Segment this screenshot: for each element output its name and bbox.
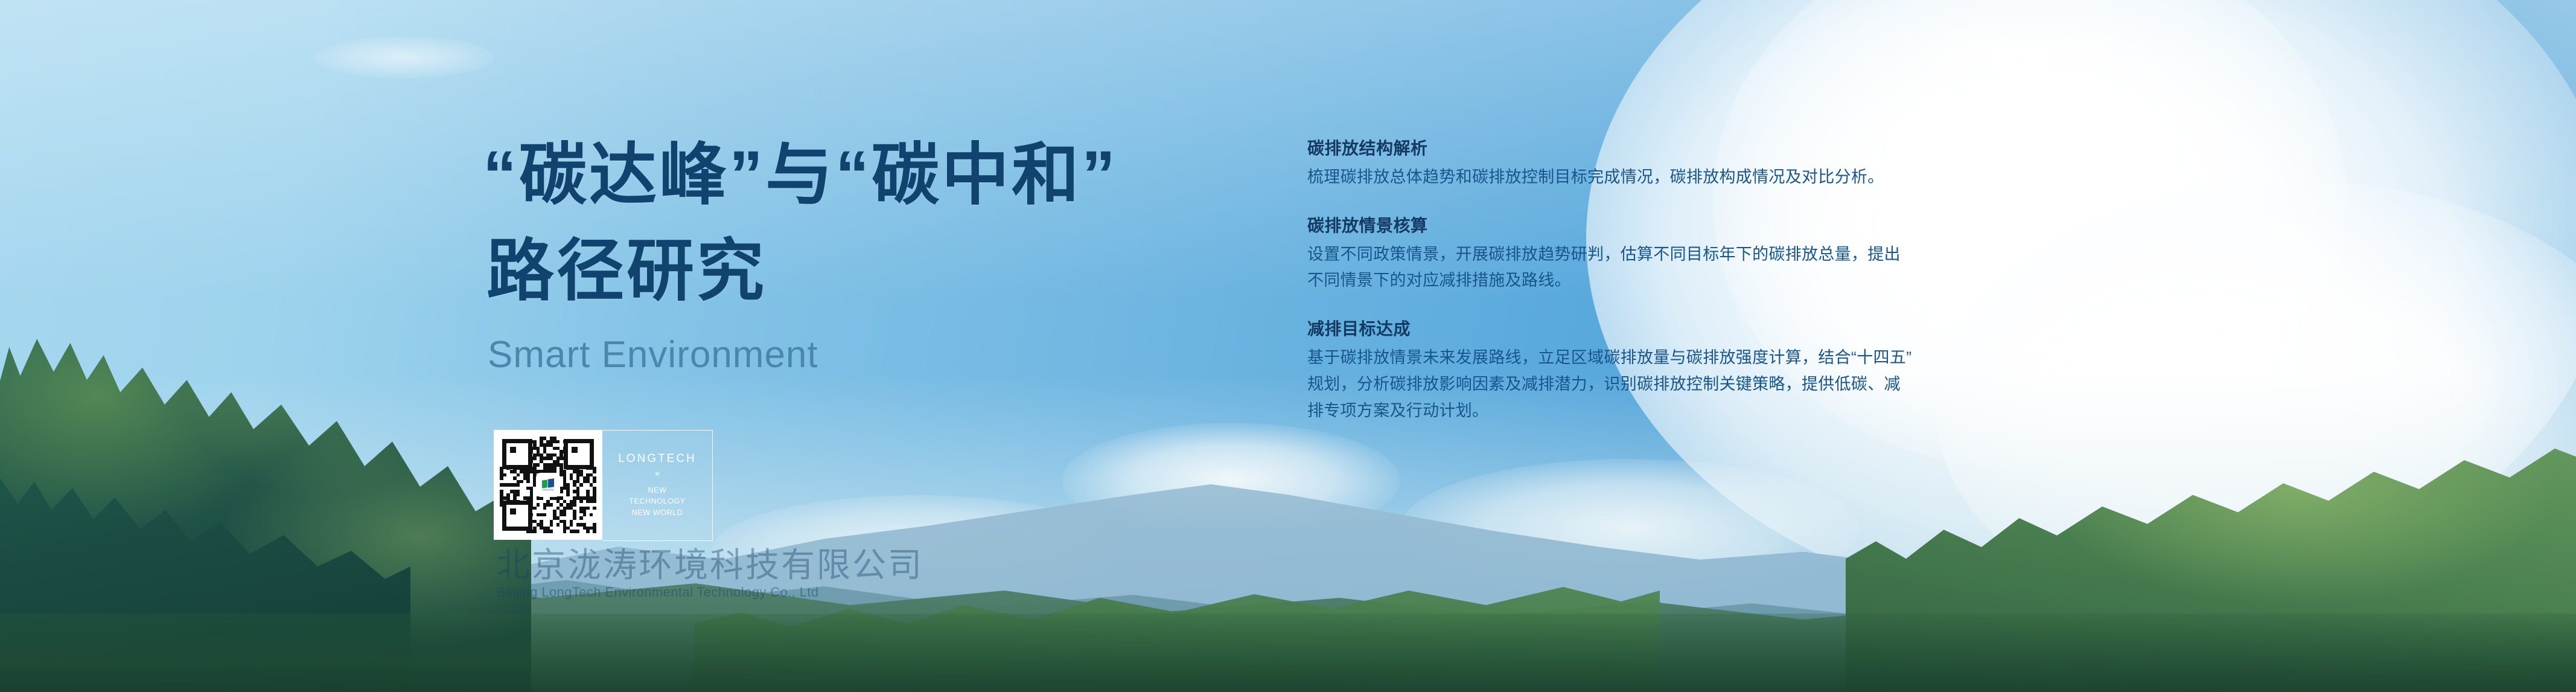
brand-tagline-line-1: NEW: [629, 485, 686, 496]
brand-tagline-line-3: NEW WORLD: [629, 507, 686, 518]
info-section-body: 设置不同政策情景，开展碳排放趋势研判，估算不同目标年下的碳排放总量，提出不同情景…: [1307, 242, 2213, 294]
info-section-body-line: 梳理碳排放总体趋势和碳排放控制目标完成情况，碳排放构成情况及对比分析。: [1307, 164, 2213, 191]
title-block: “碳达峰”与“碳中和” 路径研究 Smart Environment: [483, 127, 1237, 376]
page-title-line-1: “碳达峰”与“碳中和”: [483, 127, 1237, 223]
page-title-line-2: 路径研究: [483, 223, 1237, 319]
qr-finder-top-right-icon: [564, 439, 594, 469]
qr-code-card[interactable]: 北京泷涛环境: [494, 430, 602, 540]
info-section: 碳排放情景核算设置不同政策情景，开展碳排放趋势研判，估算不同目标年下的碳排放总量…: [1307, 215, 2213, 294]
logo-shape-green: [542, 479, 547, 488]
info-section-body-line: 排专项方案及行动计划。: [1307, 398, 2213, 424]
qr-code-icon[interactable]: 北京泷涛环境: [500, 437, 596, 533]
qr-finder-top-left-icon: [502, 439, 532, 469]
brand-tagline-line-2: TECHNOLOGY: [629, 496, 686, 507]
qr-finder-bottom-left-icon: [502, 501, 532, 531]
qr-brand-row: 北京泷涛环境 LONGTECH × NEW TECHNOLOGY NEW WOR…: [494, 430, 713, 541]
brand-name: LONGTECH: [618, 453, 697, 464]
cloud-wisp-top-right: [1919, 24, 2125, 91]
info-section: 碳排放结构解析梳理碳排放总体趋势和碳排放控制目标完成情况，碳排放构成情况及对比分…: [1307, 138, 2213, 191]
info-section-body: 基于碳排放情景未来发展路线，立足区域碳排放量与碳排放强度计算，结合“十四五”规划…: [1307, 345, 2213, 424]
hero-banner: “碳达峰”与“碳中和” 路径研究 Smart Environment 北京泷涛环…: [0, 0, 2576, 692]
info-section-heading: 碳排放情景核算: [1307, 215, 2213, 236]
brand-separator-icon: ×: [654, 470, 660, 479]
logo-caption: 北京泷涛环境: [542, 489, 553, 491]
info-section-body-line: 基于碳排放情景未来发展路线，立足区域碳排放量与碳排放强度计算，结合“十四五”: [1307, 345, 2213, 371]
info-section-body-line: 规划，分析碳排放影响因素及减排潜力，识别碳排放控制关键策略，提供低碳、减: [1307, 371, 2213, 398]
brand-tagline: NEW TECHNOLOGY NEW WORLD: [629, 485, 686, 517]
info-section-body-line: 设置不同政策情景，开展碳排放趋势研判，估算不同目标年下的碳排放总量，提出: [1307, 242, 2213, 268]
cloud-wisp-top-left: [314, 36, 495, 78]
info-section-body-line: 不同情景下的对应减排措施及路线。: [1307, 268, 2213, 294]
company-logo-icon: 北京泷涛环境: [537, 474, 559, 496]
logo-shape-blue: [548, 478, 554, 487]
logo-mark-icon: [542, 479, 554, 489]
page-subtitle: Smart Environment: [488, 335, 1237, 376]
info-column: 碳排放结构解析梳理碳排放总体趋势和碳排放控制目标完成情况，碳排放构成情况及对比分…: [1307, 138, 2213, 424]
info-section-heading: 减排目标达成: [1307, 318, 2213, 339]
info-section-heading: 碳排放结构解析: [1307, 138, 2213, 159]
forest-bottom-shadow: [0, 614, 2576, 692]
info-section: 减排目标达成基于碳排放情景未来发展路线，立足区域碳排放量与碳排放强度计算，结合“…: [1307, 318, 2213, 424]
brand-panel: LONGTECH × NEW TECHNOLOGY NEW WORLD: [602, 430, 713, 541]
info-section-body: 梳理碳排放总体趋势和碳排放控制目标完成情况，碳排放构成情况及对比分析。: [1307, 164, 2213, 191]
